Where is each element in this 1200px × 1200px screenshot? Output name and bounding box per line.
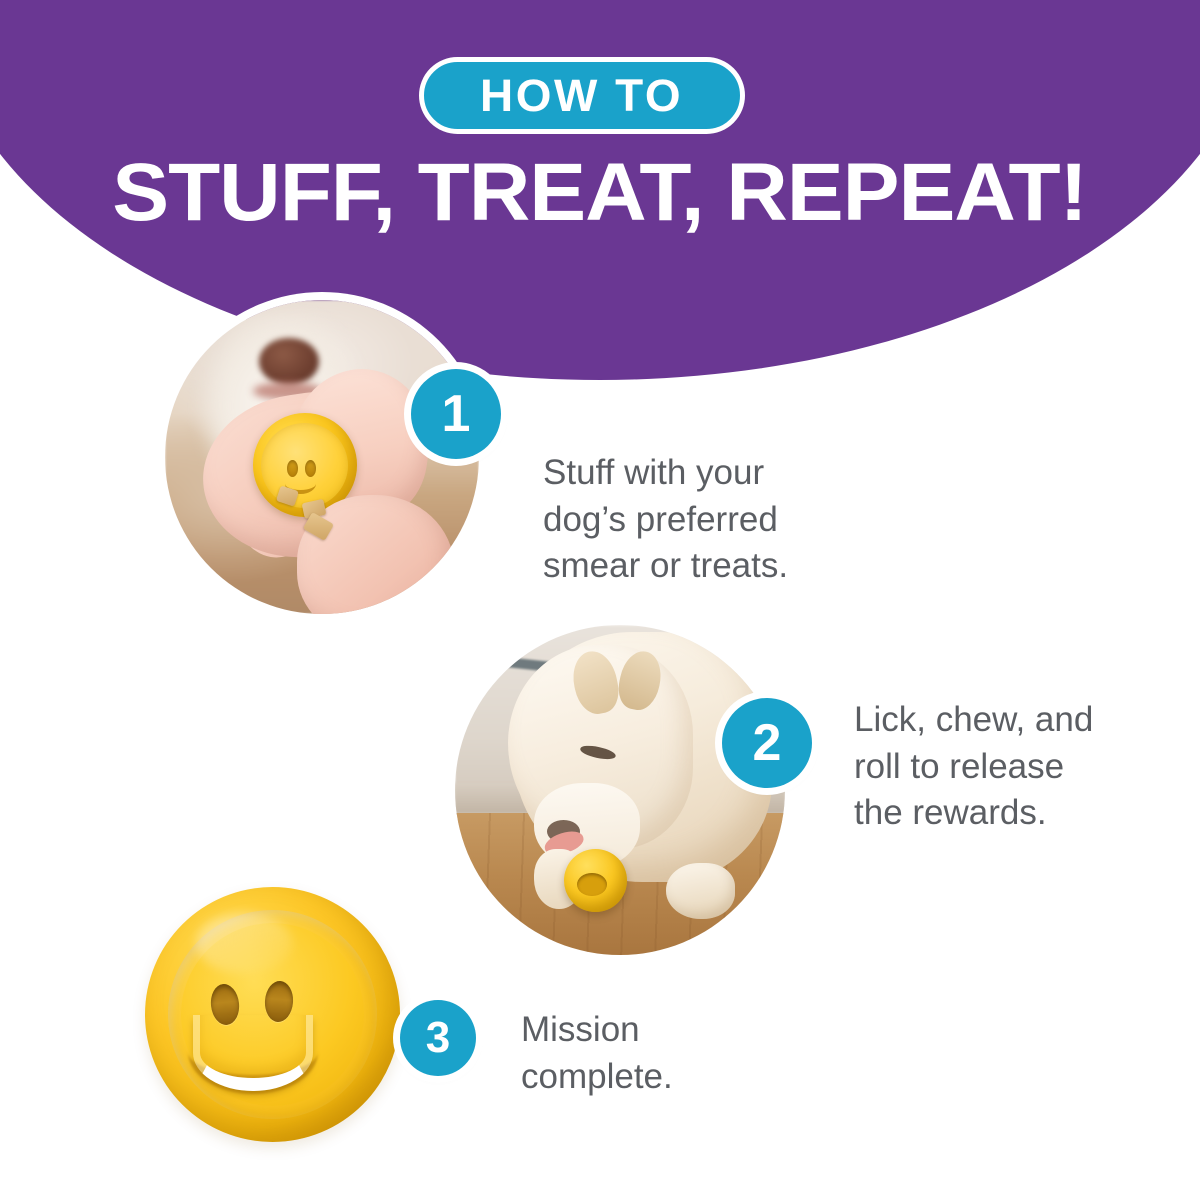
step-3-number-badge: 3 bbox=[400, 1000, 476, 1076]
infographic-stage: HOW TO STUFF, TREAT, REPEAT! bbox=[0, 0, 1200, 1200]
step-3-product-image bbox=[145, 887, 400, 1142]
step-2-number: 2 bbox=[753, 717, 782, 769]
step-1-caption: Stuff with your dog’s preferred smear or… bbox=[543, 450, 873, 590]
smiley-mouth bbox=[193, 1015, 313, 1092]
step-2-caption: Lick, chew, and roll to release the rewa… bbox=[854, 697, 1154, 837]
how-to-label: HOW TO bbox=[480, 73, 683, 118]
step-1-number: 1 bbox=[442, 388, 471, 440]
step-2-photo bbox=[455, 625, 785, 955]
step-1-photo-art bbox=[165, 300, 479, 614]
step-2-number-badge: 2 bbox=[722, 698, 812, 788]
page-title-text: STUFF, TREAT, REPEAT! bbox=[113, 152, 1088, 234]
step-1-number-badge: 1 bbox=[411, 369, 501, 459]
how-to-badge: HOW TO bbox=[419, 57, 745, 134]
toy-treat-hole bbox=[577, 873, 607, 896]
page-title: STUFF, TREAT, REPEAT! bbox=[0, 152, 1200, 234]
step-3-number: 3 bbox=[426, 1016, 450, 1060]
step-3-caption: Mission complete. bbox=[521, 1007, 841, 1100]
step-1-photo bbox=[165, 300, 479, 614]
smiley-highlight bbox=[196, 913, 293, 974]
dog-paw-right bbox=[666, 863, 735, 919]
step-2-photo-art bbox=[455, 625, 785, 955]
blurred-dog-nose bbox=[259, 338, 319, 385]
